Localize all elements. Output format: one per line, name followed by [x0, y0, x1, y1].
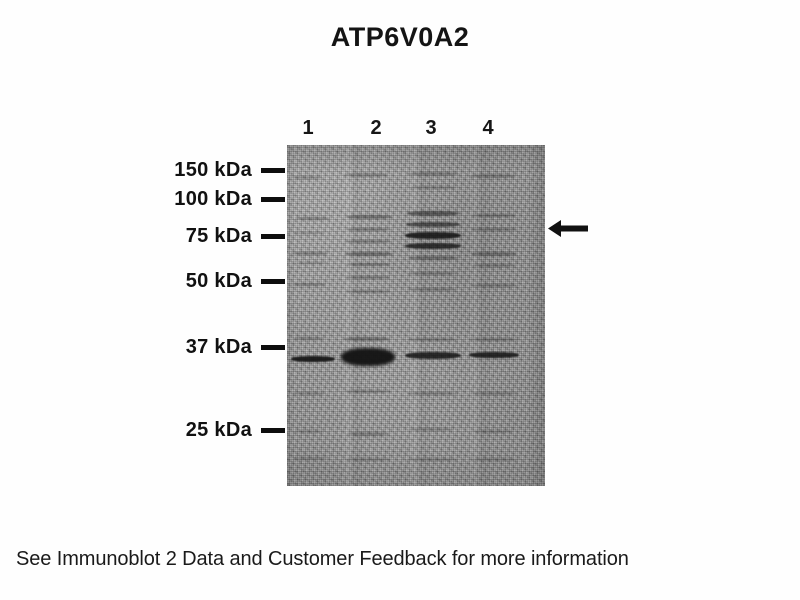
- figure-caption: See Immunoblot 2 Data and Customer Feedb…: [16, 548, 791, 571]
- marker-label-75: 75 kDa: [186, 225, 252, 248]
- marker-tick-150: [261, 168, 285, 173]
- page-title: ATP6V0A2: [0, 22, 800, 53]
- marker-row-50: 50 kDa: [140, 269, 285, 293]
- marker-row-37: 37 kDa: [140, 335, 285, 359]
- lane-label-2: 2: [363, 117, 389, 140]
- marker-label-100: 100 kDa: [174, 188, 252, 211]
- marker-tick-25: [261, 428, 285, 433]
- marker-tick-50: [261, 279, 285, 284]
- marker-label-50: 50 kDa: [186, 270, 252, 293]
- left-arrow-icon: [548, 219, 588, 238]
- marker-label-25: 25 kDa: [186, 419, 252, 442]
- marker-tick-37: [261, 345, 285, 350]
- western-blot-figure: ATP6V0A2 1234 150 kDa100 kDa75 kDa50 kDa…: [0, 0, 800, 600]
- marker-label-150: 150 kDa: [174, 159, 252, 182]
- blot-gel-panel: [287, 145, 545, 486]
- marker-row-100: 100 kDa: [140, 187, 285, 211]
- marker-tick-100: [261, 197, 285, 202]
- marker-row-25: 25 kDa: [140, 418, 285, 442]
- lane-label-3: 3: [418, 117, 444, 140]
- lane-label-1: 1: [295, 117, 321, 140]
- lane-label-4: 4: [475, 117, 501, 140]
- marker-label-37: 37 kDa: [186, 336, 252, 359]
- marker-row-150: 150 kDa: [140, 158, 285, 182]
- film-vignette: [287, 145, 545, 486]
- marker-row-75: 75 kDa: [140, 224, 285, 248]
- marker-tick-75: [261, 234, 285, 239]
